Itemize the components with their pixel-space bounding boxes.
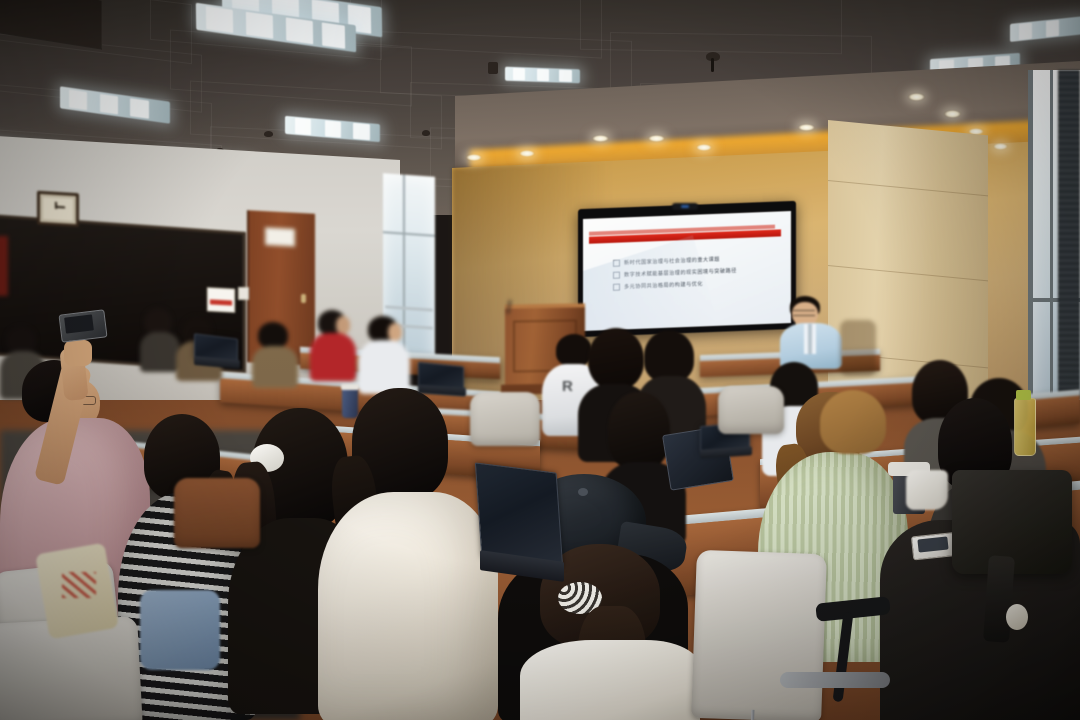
bag-charm (1006, 604, 1028, 630)
laptop[interactable] (194, 336, 242, 370)
seminar-room-photo: 新时代国家治理与社会治理的重大课题 数字技术赋能基层治理的现实困境与突破路径 多… (0, 0, 1080, 720)
downlight-icon (466, 154, 482, 161)
torso (520, 640, 700, 720)
office-chair[interactable] (718, 386, 784, 434)
chair-base (780, 672, 890, 688)
downlight-icon (993, 143, 1008, 150)
cap-button-icon (578, 488, 588, 496)
glasses-icon (793, 310, 815, 316)
video-camera-icon (672, 203, 698, 210)
bag-print (62, 572, 96, 598)
wall-clock (37, 191, 79, 227)
hand (64, 340, 92, 366)
attendee-red-shirt (310, 310, 356, 380)
office-chair[interactable] (174, 478, 260, 548)
downlight-icon (519, 150, 535, 157)
torso (318, 492, 498, 720)
warning-notice (207, 287, 235, 312)
presenter-shadow (840, 320, 876, 376)
ceiling-light-panel (1010, 16, 1080, 42)
light-switch[interactable] (238, 287, 249, 300)
attendee-white-shirt (358, 316, 410, 392)
door-handle-icon[interactable] (301, 294, 306, 303)
downlight-icon (696, 144, 712, 151)
cup-lid-icon (341, 384, 359, 390)
presentation-slide: 新时代国家治理与社会治理的重大课题 数字技术赋能基层治理的现实困境与突破路径 多… (583, 211, 791, 331)
presentation-display: 新时代国家治理与社会治理的重大课题 数字技术赋能基层治理的现实困境与突破路径 多… (578, 201, 796, 337)
smoke-detector-icon (264, 131, 273, 137)
downlight-icon (648, 135, 665, 142)
attendee (252, 322, 298, 386)
laptop[interactable] (418, 364, 468, 398)
ceiling-light-panel (505, 67, 580, 84)
bottle-cap-icon (1016, 390, 1031, 400)
downlight-icon (908, 93, 925, 101)
chalkboard-edge (0, 236, 8, 296)
tissue (906, 470, 948, 510)
drink-bottle[interactable] (1014, 398, 1036, 456)
office-chair[interactable] (691, 550, 827, 720)
shirt-letter-R: R (562, 378, 576, 398)
projector-rod (711, 58, 714, 72)
smoke-detector-icon (422, 130, 430, 136)
travel-cup[interactable] (342, 388, 358, 418)
downlight-icon (944, 110, 961, 118)
phone-screen (64, 314, 94, 333)
sprinkler-icon (488, 62, 498, 74)
window-blind[interactable] (1058, 70, 1080, 400)
downlight-icon (592, 135, 609, 142)
laptop[interactable] (478, 468, 574, 578)
denim-jacket (140, 590, 220, 670)
presenter (780, 296, 842, 368)
downlight-icon (798, 124, 815, 131)
room-number-sign (265, 227, 295, 247)
office-chair[interactable] (470, 392, 540, 446)
screen-glare (583, 236, 717, 331)
